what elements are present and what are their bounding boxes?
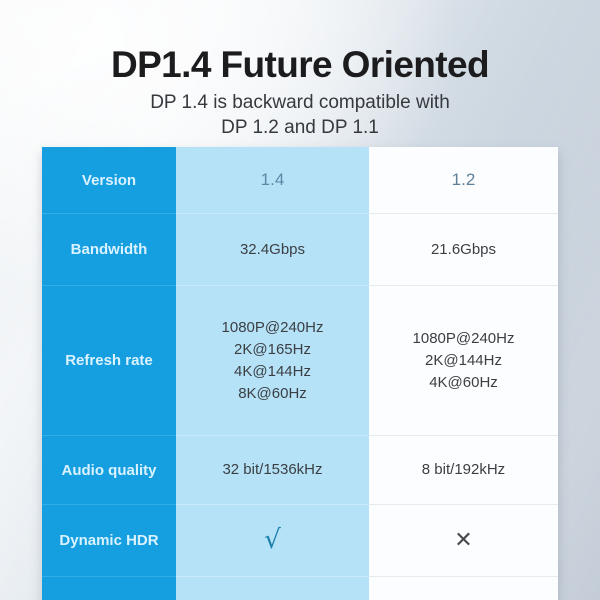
table-row: Bandwidth 32.4Gbps 21.6Gbps <box>42 214 558 286</box>
refresh-rate-dp12-line: 1080P@240Hz <box>373 328 554 350</box>
refresh-rate-dp14-line: 4K@144Hz <box>180 361 365 383</box>
cell-dynamic-hdr-dp12: ✕ <box>369 505 558 577</box>
row-label-bandwidth: Bandwidth <box>42 214 176 286</box>
cell-version-dp14: 1.4 <box>176 147 369 214</box>
table-row: Dynamic HDR √ ✕ <box>42 505 558 577</box>
cell-version-dp12: 1.2 <box>369 147 558 214</box>
row-label-refresh-rate: Refresh rate <box>42 286 176 436</box>
cell-bandwidth-dp12: 21.6Gbps <box>369 214 558 286</box>
refresh-rate-dp14-line: 2K@165Hz <box>180 339 365 361</box>
cell-bandwidth-dp14: 32.4Gbps <box>176 214 369 286</box>
table-row: Refresh rate 1080P@240Hz 2K@165Hz 4K@144… <box>42 286 558 436</box>
refresh-rate-dp14-line: 1080P@240Hz <box>180 317 365 339</box>
table-row: Multiple screen display √ √ <box>42 577 558 600</box>
cell-multiple-screen-display-dp12: √ <box>369 577 558 600</box>
subtitle-line-1: DP 1.4 is backward compatible with <box>0 90 600 115</box>
cell-refresh-rate-dp12: 1080P@240Hz 2K@144Hz 4K@60Hz <box>369 286 558 436</box>
refresh-rate-dp12-line: 2K@144Hz <box>373 350 554 372</box>
row-label-multiple-screen-display: Multiple screen display <box>42 577 176 600</box>
page-title: DP1.4 Future Oriented <box>0 44 600 86</box>
row-label-version: Version <box>42 147 176 214</box>
cell-refresh-rate-dp14: 1080P@240Hz 2K@165Hz 4K@144Hz 8K@60Hz <box>176 286 369 436</box>
row-label-line: Multiple screen <box>46 597 172 600</box>
cell-dynamic-hdr-dp14: √ <box>176 505 369 577</box>
table-row: Audio quality 32 bit/1536kHz 8 bit/192kH… <box>42 436 558 505</box>
check-mark-icon: √ <box>264 525 281 555</box>
row-label-audio-quality: Audio quality <box>42 436 176 505</box>
cell-multiple-screen-display-dp14: √ <box>176 577 369 600</box>
table-row: Version 1.4 1.2 <box>42 147 558 214</box>
refresh-rate-dp12-line: 4K@60Hz <box>373 372 554 394</box>
page-subtitle: DP 1.4 is backward compatible with DP 1.… <box>0 90 600 140</box>
cross-mark-icon: ✕ <box>454 528 472 553</box>
subtitle-line-2: DP 1.2 and DP 1.1 <box>0 115 600 140</box>
cell-audio-quality-dp12: 8 bit/192kHz <box>369 436 558 505</box>
poster-canvas: DP1.4 Future Oriented DP 1.4 is backward… <box>0 0 600 600</box>
dp-comparison-table: Version 1.4 1.2 Bandwidth 32.4Gbps 21.6G… <box>42 147 558 600</box>
row-label-dynamic-hdr: Dynamic HDR <box>42 505 176 577</box>
cell-audio-quality-dp14: 32 bit/1536kHz <box>176 436 369 505</box>
refresh-rate-dp14-line: 8K@60Hz <box>180 383 365 405</box>
